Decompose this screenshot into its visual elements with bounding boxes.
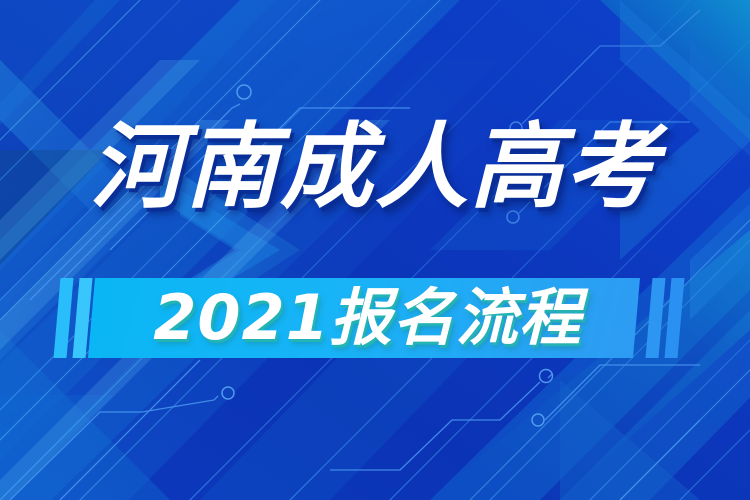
- accent-bar-right-inner: [646, 278, 666, 358]
- subtitle-text: 2021报名流程: [153, 287, 582, 349]
- subtitle: 2021报名流程: [95, 278, 640, 358]
- accent-bar-right-outer: [665, 278, 685, 358]
- accent-bar-left-outer: [54, 278, 74, 358]
- subtitle-banner: 2021报名流程: [0, 274, 750, 364]
- background-graphic: [0, 0, 750, 500]
- poster-canvas: 河南成人高考 2021报名流程: [0, 0, 750, 500]
- background-vignette: [0, 0, 750, 500]
